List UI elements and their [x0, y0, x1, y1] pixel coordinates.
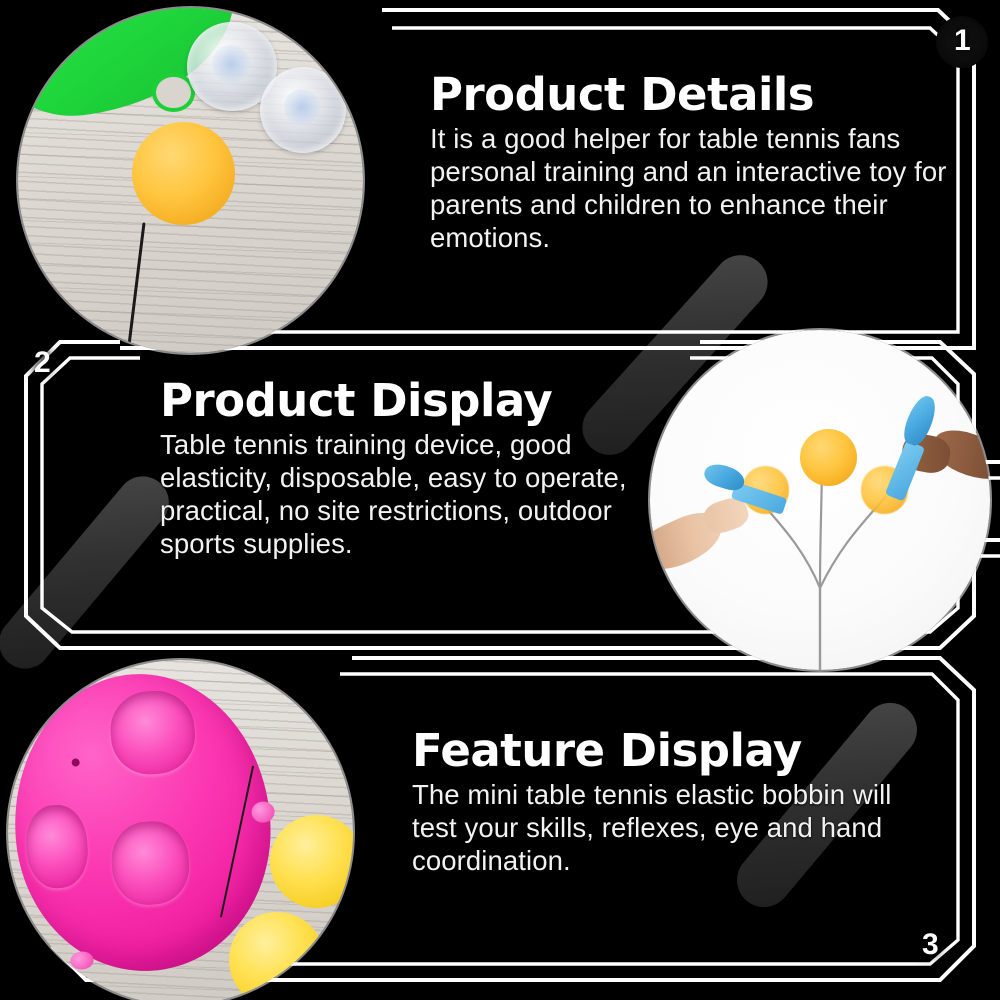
- base-cavity: [109, 819, 191, 907]
- section-1-heading: Product Details: [430, 72, 975, 118]
- base-cavity: [108, 688, 198, 777]
- orange-ball: [132, 122, 236, 226]
- section-badge-3: 3: [922, 930, 939, 960]
- product-display-photo: [650, 330, 990, 670]
- section-1-text-block: Product Details It is a good helper for …: [430, 72, 975, 254]
- paddle-hole: [156, 77, 191, 108]
- section-2-heading: Product Display: [160, 378, 630, 424]
- section-1-body: It is a good helper for table tennis fan…: [430, 122, 975, 254]
- section-3-text-block: Feature Display The mini table tennis el…: [412, 728, 932, 877]
- section-3-heading: Feature Display: [412, 728, 932, 774]
- section-2-body: Table tennis training device, good elast…: [160, 428, 630, 560]
- section-3-body: The mini table tennis elastic bobbin wil…: [412, 778, 932, 877]
- yellow-ball: [229, 912, 326, 1000]
- base-pinhole: [72, 758, 81, 767]
- diagonal-streak-decoration: [0, 466, 179, 679]
- section-2-text-block: Product Display Table tennis training de…: [160, 378, 630, 560]
- product-detail-photo: [18, 8, 363, 353]
- infographic-canvas: 1 2 3: [0, 0, 1000, 1000]
- base-cavity: [24, 802, 91, 889]
- suction-cup: [260, 67, 346, 153]
- section-badge-1: 1: [954, 26, 971, 56]
- elastic-rods: [650, 330, 990, 670]
- feature-display-photo: [8, 660, 353, 1000]
